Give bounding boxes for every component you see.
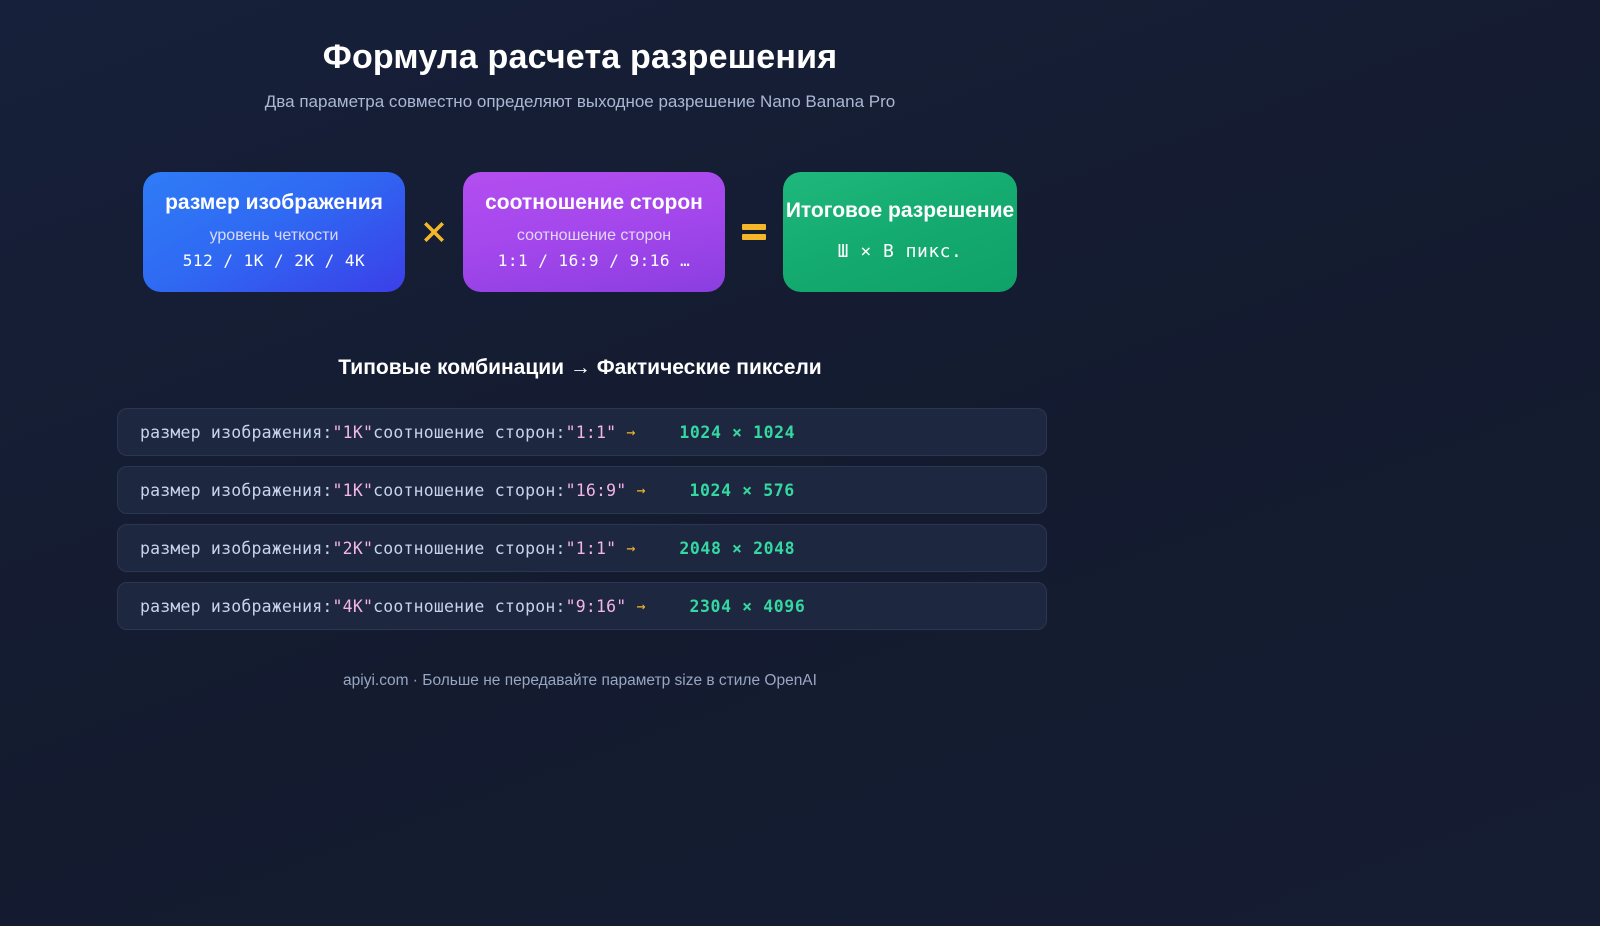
page-title: Формула расчета разрешения: [0, 36, 1160, 79]
card-aspect-ratio-subtitle: соотношение сторон: [517, 225, 671, 247]
arrow-right-icon: →: [626, 423, 635, 441]
table-row[interactable]: размер изображения: "4K" соотношение сто…: [117, 582, 1047, 630]
combinations-list: размер изображения: "1K" соотношение сто…: [117, 408, 1047, 640]
row-size-value: "2K": [333, 539, 374, 558]
table-row[interactable]: размер изображения: "1K" соотношение сто…: [117, 466, 1047, 514]
row-size-value: "1K": [333, 423, 374, 442]
row-ratio-value: "16:9": [566, 481, 627, 500]
card-image-size: размер изображения уровень четкости 512 …: [143, 172, 405, 292]
row-size-value: "1K": [333, 481, 374, 500]
card-final-resolution-values: Ш × В пикс.: [838, 239, 963, 264]
row-size-key: размер изображения:: [140, 481, 333, 500]
header: Формула расчета разрешения Два параметра…: [0, 36, 1160, 113]
row-ratio-value: "9:16": [566, 597, 627, 616]
table-row[interactable]: размер изображения: "2K" соотношение сто…: [117, 524, 1047, 572]
row-size-key: размер изображения:: [140, 539, 333, 558]
card-image-size-subtitle: уровень четкости: [210, 225, 339, 247]
row-ratio-value: "1:1": [566, 539, 617, 558]
row-result: 2048 × 2048: [679, 539, 795, 558]
card-aspect-ratio-values: 1:1 / 16:9 / 9:16 …: [498, 250, 691, 272]
combinations-section-title: Типовые комбинации → Фактические пиксели: [0, 356, 1160, 380]
card-final-resolution-title: Итоговое разрешение: [786, 198, 1014, 223]
card-image-size-values: 512 / 1K / 2K / 4K: [183, 250, 365, 272]
row-ratio-key: соотношение сторон:: [373, 597, 566, 616]
footer-note: apiyi.com · Больше не передавайте параме…: [0, 672, 1160, 690]
card-aspect-ratio: соотношение сторон соотношение сторон 1:…: [463, 172, 725, 292]
row-size-key: размер изображения:: [140, 423, 333, 442]
table-row[interactable]: размер изображения: "1K" соотношение сто…: [117, 408, 1047, 456]
arrow-right-icon: →: [636, 481, 645, 499]
equals-icon: [725, 219, 783, 245]
arrow-right-icon: →: [636, 597, 645, 615]
row-result: 1024 × 1024: [679, 423, 795, 442]
row-size-key: размер изображения:: [140, 597, 333, 616]
card-aspect-ratio-title: соотношение сторон: [485, 190, 703, 215]
infographic-page: Формула расчета разрешения Два параметра…: [0, 0, 1600, 926]
arrow-right-icon: →: [626, 539, 635, 557]
card-final-resolution: Итоговое разрешение Ш × В пикс.: [783, 172, 1017, 292]
page-subtitle: Два параметра совместно определяют выход…: [0, 91, 1160, 113]
row-ratio-value: "1:1": [566, 423, 617, 442]
formula-diagram: размер изображения уровень четкости 512 …: [0, 172, 1160, 292]
card-image-size-title: размер изображения: [165, 190, 383, 215]
row-ratio-key: соотношение сторон:: [373, 423, 566, 442]
row-result: 2304 × 4096: [689, 597, 805, 616]
row-result: 1024 × 576: [689, 481, 794, 500]
multiply-icon: [405, 215, 463, 249]
row-ratio-key: соотношение сторон:: [373, 481, 566, 500]
row-size-value: "4K": [333, 597, 374, 616]
row-ratio-key: соотношение сторон:: [373, 539, 566, 558]
